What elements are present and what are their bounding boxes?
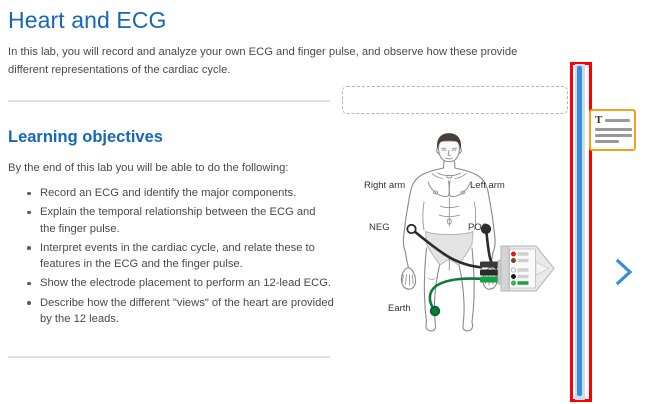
label-left-arm: Left arm: [470, 180, 505, 191]
list-item: Explain the temporal relationship betwee…: [38, 204, 334, 237]
text-annotation-icon[interactable]: T: [589, 109, 636, 151]
ecg-electrode-placement-diagram: Right arm Left arm NEG POS Earth: [340, 118, 568, 333]
text-icon-line: [595, 140, 619, 143]
earth-electrode: [431, 307, 440, 316]
lab-page: Heart and ECG In this lab, you will reco…: [0, 0, 648, 404]
label-pos: POS: [468, 222, 488, 233]
text-icon-line: [595, 134, 632, 137]
chevron-right-icon: [613, 257, 635, 287]
list-item: Show the electrode placement to perform …: [38, 275, 334, 292]
figure-column: Right arm Left arm NEG POS Earth: [340, 0, 568, 404]
text-icon-line: [605, 119, 630, 122]
learning-objectives-intro: By the end of this lab you will be able …: [8, 160, 289, 176]
scrollbar-thumb[interactable]: [577, 66, 582, 396]
text-icon-first-row: T: [595, 116, 630, 125]
text-icon-line: [595, 128, 632, 131]
caption-placeholder-box[interactable]: [342, 86, 568, 114]
section-divider-bottom: [8, 356, 330, 358]
lab-text-column: Heart and ECG In this lab, you will reco…: [8, 0, 338, 404]
section-divider-top: [8, 100, 330, 102]
text-tool-glyph: T: [595, 116, 602, 125]
label-right-arm: Right arm: [364, 180, 405, 191]
page-title: Heart and ECG: [8, 0, 338, 34]
next-page-button[interactable]: [613, 257, 635, 287]
label-earth: Earth: [388, 303, 411, 314]
earth-cable: [430, 279, 485, 311]
label-neg: NEG: [369, 222, 390, 233]
neg-electrode: [407, 225, 415, 233]
learning-objectives-heading: Learning objectives: [8, 127, 163, 147]
list-item: Describe how the different "views" of th…: [38, 295, 334, 328]
learning-objectives-list: Record an ECG and identify the major com…: [22, 185, 334, 330]
list-item: Interpret events in the cardiac cycle, a…: [38, 240, 334, 273]
list-item: Record an ECG and identify the major com…: [38, 185, 334, 202]
